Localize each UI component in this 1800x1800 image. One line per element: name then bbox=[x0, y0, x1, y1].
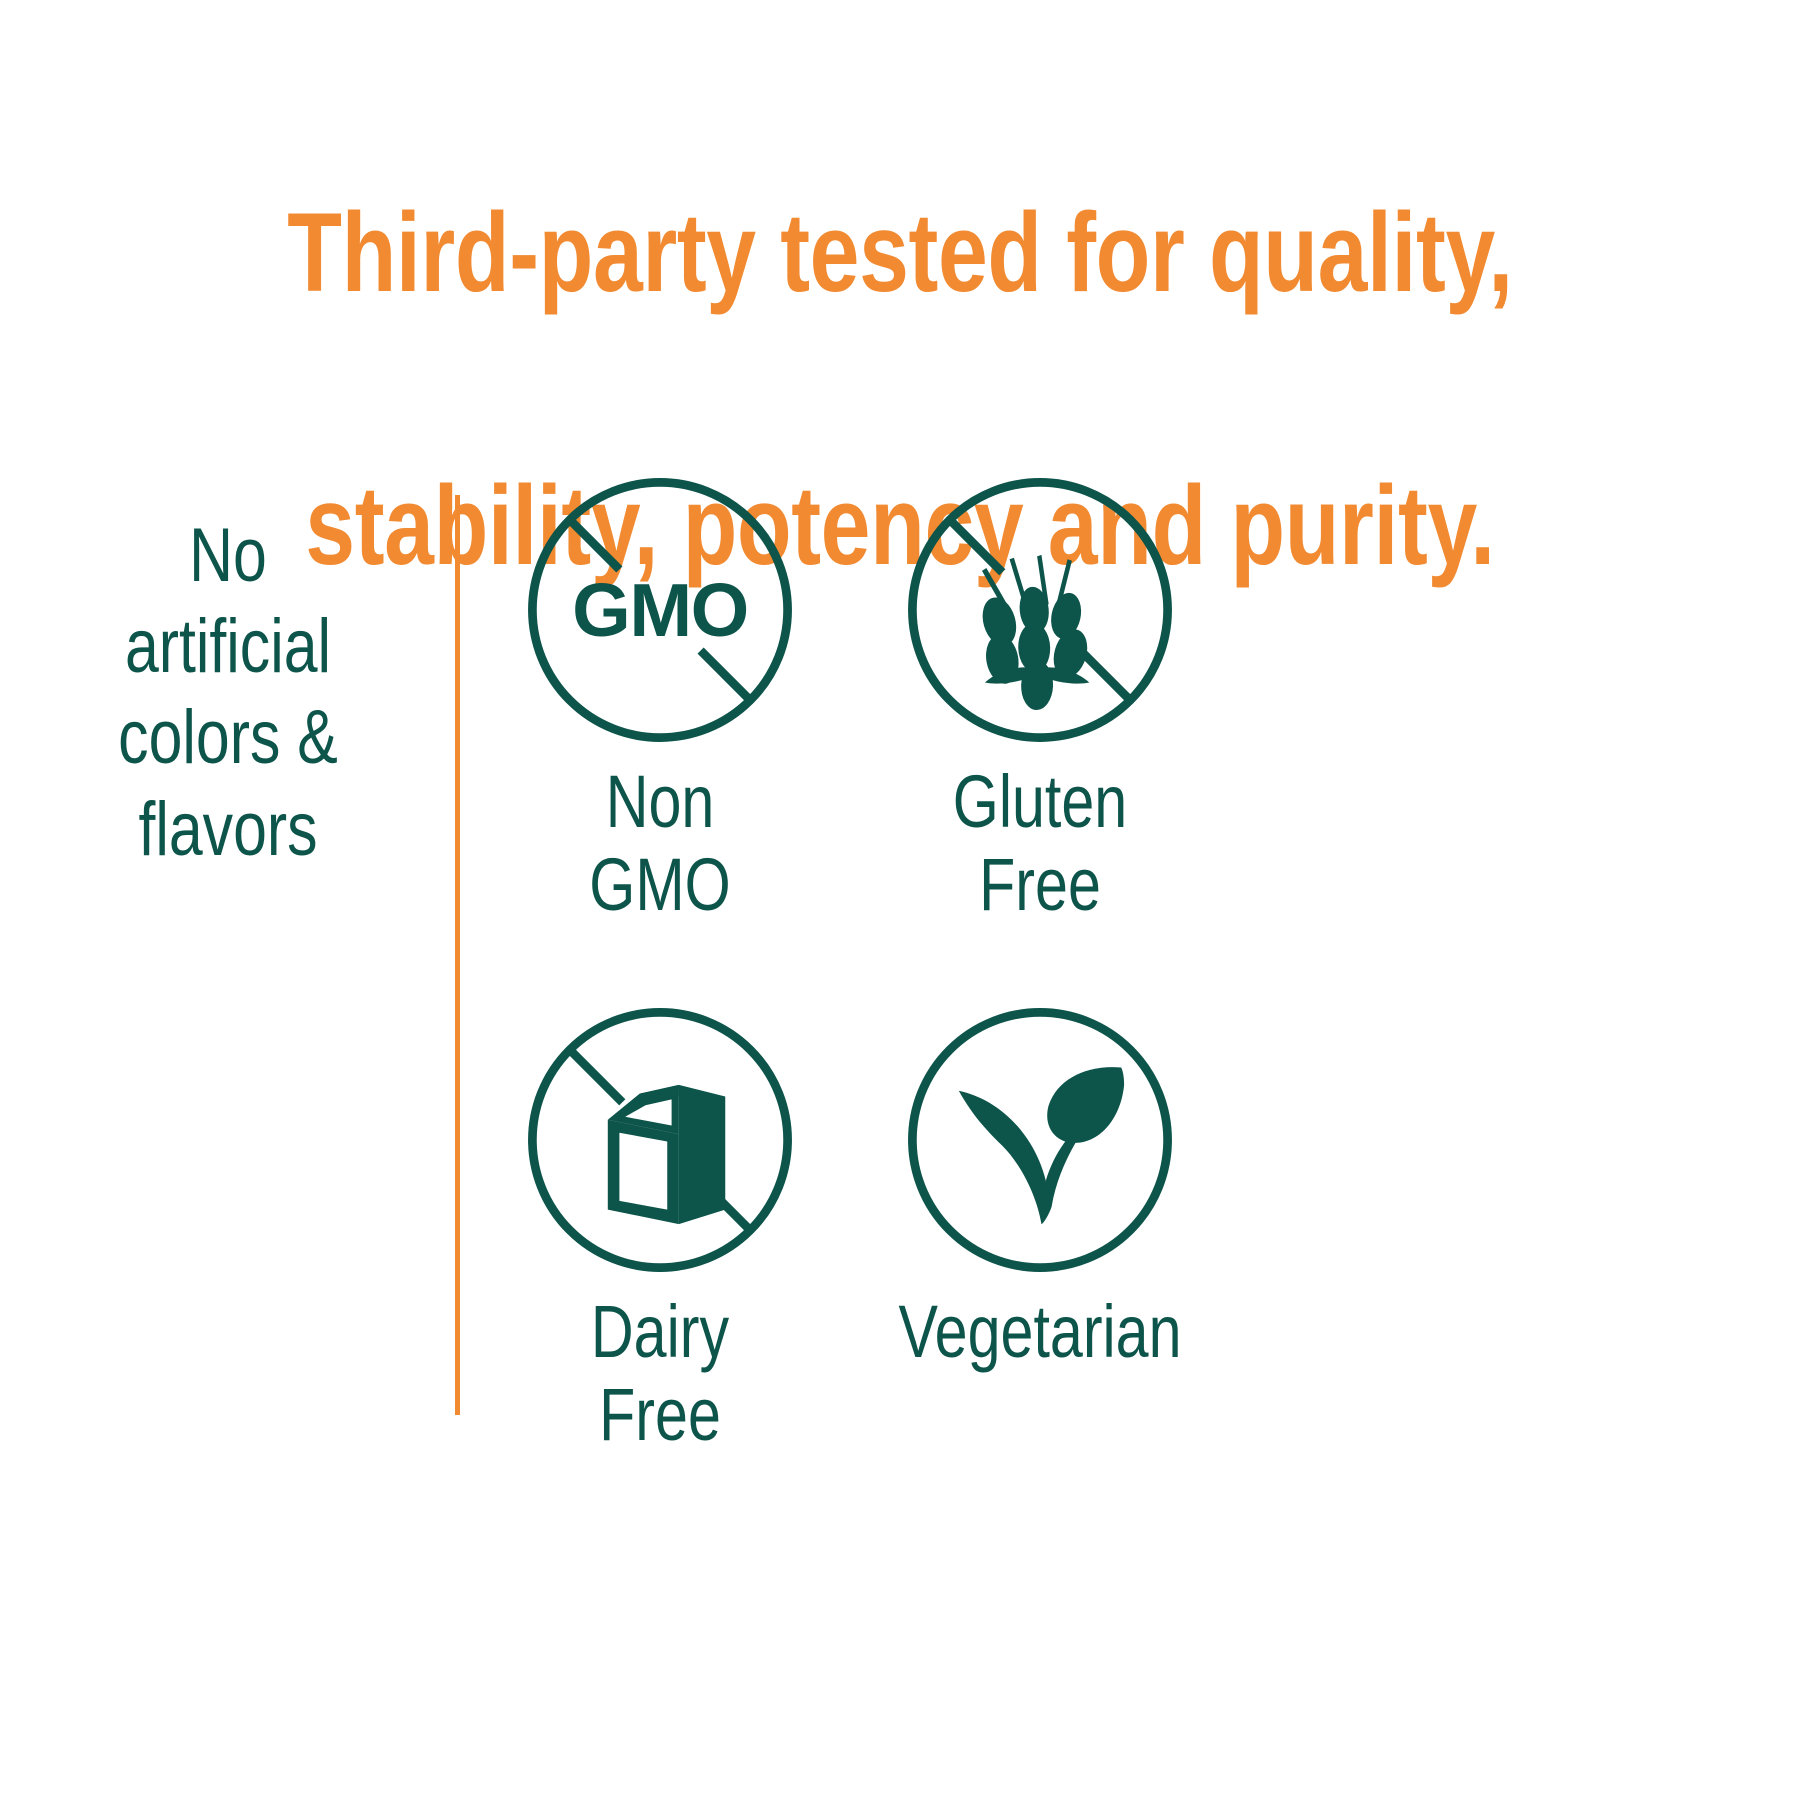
vertical-divider bbox=[455, 495, 460, 1415]
badge-gluten-free: Gluten Free bbox=[850, 465, 1230, 927]
caption-line-3: colors & bbox=[92, 692, 364, 783]
badge-non-gmo: GMO Non GMO bbox=[470, 465, 850, 927]
badge-label-dairy-free: Dairy Free bbox=[508, 1291, 812, 1457]
badge-label-non-gmo: Non GMO bbox=[508, 761, 812, 927]
promo-panel: Third-party tested for quality, stabilit… bbox=[0, 0, 1800, 1800]
badge-label-gluten-free: Gluten Free bbox=[888, 761, 1192, 927]
no-gmo-icon: GMO bbox=[515, 465, 805, 755]
badge-vegetarian: Vegetarian bbox=[850, 995, 1230, 1374]
caption-line-4: flavors bbox=[92, 784, 364, 875]
headline-line-1: Third-party tested for quality, bbox=[180, 185, 1620, 322]
no-milk-carton-icon bbox=[515, 995, 805, 1285]
leaf-v-icon bbox=[895, 995, 1185, 1285]
badge-label-vegetarian: Vegetarian bbox=[888, 1291, 1192, 1374]
badge-dairy-free: Dairy Free bbox=[470, 995, 850, 1457]
badge-grid: GMO Non GMO bbox=[470, 470, 1230, 1670]
no-wheat-icon bbox=[895, 465, 1185, 755]
caption-line-1: No bbox=[92, 510, 364, 601]
svg-text:GMO: GMO bbox=[572, 568, 748, 652]
caption-line-2: artificial bbox=[92, 601, 364, 692]
attributes-section: No artificial colors & flavors GMO Non G… bbox=[0, 470, 1800, 1670]
no-artificial-caption: No artificial colors & flavors bbox=[92, 510, 364, 875]
